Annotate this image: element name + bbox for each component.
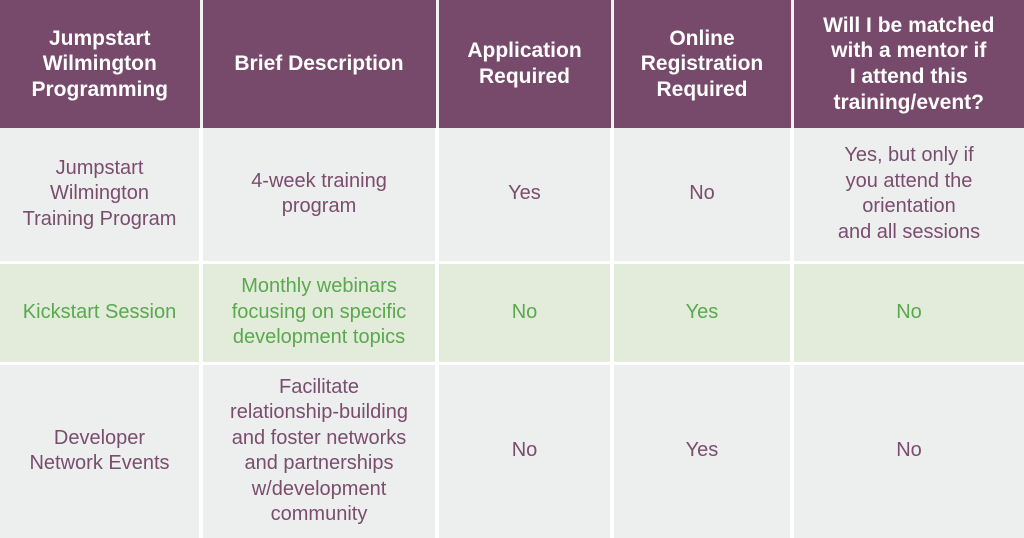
cell-program-text: Jumpstart Wilmington Training Program (8, 156, 191, 233)
cell-description: 4-week training program (201, 128, 437, 262)
cell-description-text: Facilitate relationship-building and fos… (211, 375, 427, 529)
column-header-mentor-match-label: Will I be matched with a mentor if I att… (804, 13, 1015, 115)
cell-mentor-match: Yes, but only if you attend the orientat… (792, 128, 1024, 262)
cell-application-required-text: No (447, 300, 602, 326)
cell-description: Monthly webinars focusing on specific de… (201, 262, 437, 363)
table-row: Jumpstart Wilmington Training Program 4-… (0, 128, 1024, 262)
cell-description-text: 4-week training program (211, 169, 427, 220)
column-header-program-label: Jumpstart Wilmington Programming (10, 26, 190, 103)
column-header-description: Brief Description (201, 0, 437, 128)
cell-program-text: Developer Network Events (8, 426, 191, 477)
cell-online-registration-required-text: Yes (622, 438, 782, 464)
cell-description-text: Monthly webinars focusing on specific de… (211, 274, 427, 351)
cell-mentor-match: No (792, 363, 1024, 538)
table-row: Developer Network Events Facilitate rela… (0, 363, 1024, 538)
table-header-row: Jumpstart Wilmington Programming Brief D… (0, 0, 1024, 128)
column-header-online-registration-required: Online Registration Required (612, 0, 792, 128)
cell-online-registration-required: No (612, 128, 792, 262)
cell-mentor-match-text: Yes, but only if you attend the orientat… (802, 143, 1016, 245)
column-header-description-label: Brief Description (213, 51, 426, 77)
cell-application-required: No (437, 262, 612, 363)
cell-program: Developer Network Events (0, 363, 201, 538)
cell-online-registration-required-text: No (622, 181, 782, 207)
programming-comparison-table: Jumpstart Wilmington Programming Brief D… (0, 0, 1024, 538)
cell-online-registration-required-text: Yes (622, 300, 782, 326)
cell-application-required: Yes (437, 128, 612, 262)
cell-mentor-match-text: No (802, 300, 1016, 326)
programming-comparison-table-container: Jumpstart Wilmington Programming Brief D… (0, 0, 1024, 538)
column-header-mentor-match: Will I be matched with a mentor if I att… (792, 0, 1024, 128)
cell-description: Facilitate relationship-building and fos… (201, 363, 437, 538)
cell-application-required-text: No (447, 438, 602, 464)
table-body: Jumpstart Wilmington Training Program 4-… (0, 128, 1024, 538)
table-row: Kickstart Session Monthly webinars focus… (0, 262, 1024, 363)
column-header-application-required: Application Required (437, 0, 612, 128)
cell-online-registration-required: Yes (612, 363, 792, 538)
cell-mentor-match: No (792, 262, 1024, 363)
cell-program: Jumpstart Wilmington Training Program (0, 128, 201, 262)
cell-online-registration-required: Yes (612, 262, 792, 363)
cell-mentor-match-text: No (802, 438, 1016, 464)
cell-application-required: No (437, 363, 612, 538)
cell-application-required-text: Yes (447, 181, 602, 207)
column-header-online-registration-required-label: Online Registration Required (624, 26, 781, 103)
cell-program-text: Kickstart Session (8, 300, 191, 326)
column-header-application-required-label: Application Required (449, 38, 601, 89)
cell-program: Kickstart Session (0, 262, 201, 363)
table-header: Jumpstart Wilmington Programming Brief D… (0, 0, 1024, 128)
column-header-program: Jumpstart Wilmington Programming (0, 0, 201, 128)
